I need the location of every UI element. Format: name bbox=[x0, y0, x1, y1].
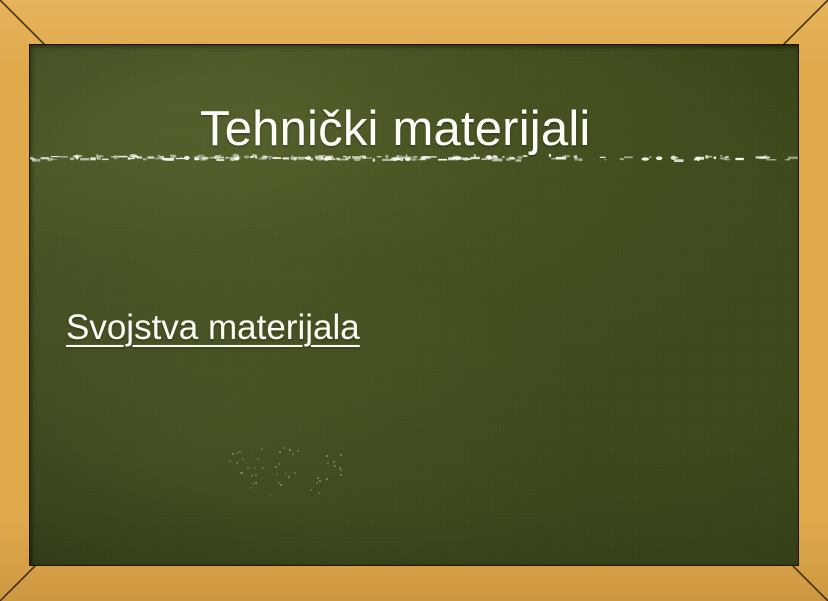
body-text-item-0: Svojstva materijala bbox=[66, 308, 360, 348]
chalk-dust-specks bbox=[225, 440, 355, 500]
chalkboard-surface: Tehnički materijali Svojstva materijala bbox=[30, 45, 798, 565]
presentation-slide: Tehnički materijali Svojstva materijala bbox=[0, 0, 828, 601]
slide-title: Tehnički materijali bbox=[200, 103, 798, 156]
